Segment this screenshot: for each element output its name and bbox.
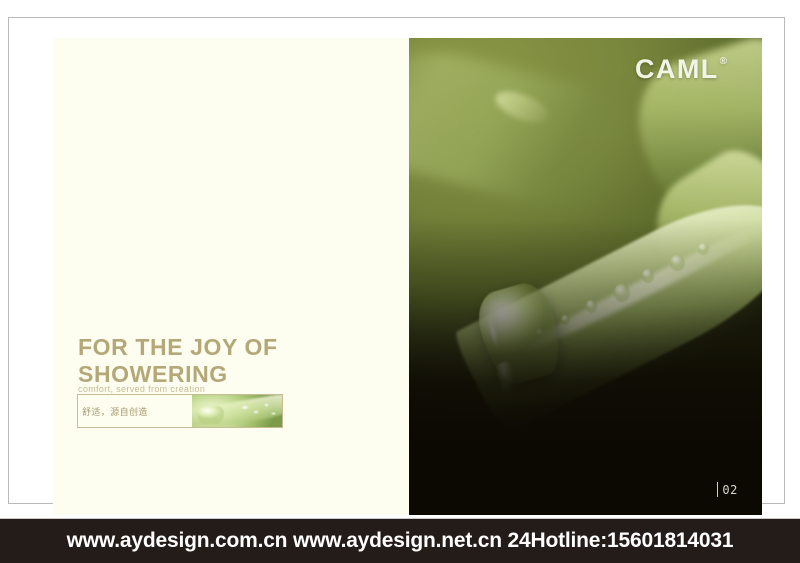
inset-water-droplet (197, 406, 224, 425)
inset-leaf-photo (192, 395, 282, 427)
caml-logo: CAML® (635, 56, 726, 83)
folio-rule (717, 482, 718, 497)
artwork-frame: FOR THE JOY OF SHOWERING comfort, served… (8, 17, 785, 504)
inset-water-bead (241, 405, 249, 410)
headline-line-1: FOR THE JOY OF (78, 334, 388, 361)
subline-text: comfort, served from creation (78, 384, 205, 394)
tagline-row: 舒适，源自创造 (77, 394, 283, 428)
caml-logo-text: CAML (635, 54, 719, 84)
brochure-left-page: FOR THE JOY OF SHOWERING comfort, served… (53, 38, 409, 515)
tagline-chinese: 舒适，源自创造 (78, 395, 192, 427)
brochure-spread: FOR THE JOY OF SHOWERING comfort, served… (53, 38, 762, 515)
banner-text: www.aydesign.com.cn www.aydesign.net.cn … (67, 529, 734, 553)
inset-water-bead (271, 412, 276, 415)
watermark-banner: www.aydesign.com.cn www.aydesign.net.cn … (0, 519, 800, 563)
registered-trademark-icon: ® (720, 56, 727, 67)
page-number: 02 (722, 483, 738, 497)
photo-vignette-overlay (409, 38, 762, 515)
headline-block: FOR THE JOY OF SHOWERING (78, 334, 388, 388)
page-number-group: 02 (717, 482, 738, 497)
portfolio-page: FOR THE JOY OF SHOWERING comfort, served… (0, 0, 800, 563)
brochure-right-page: CAML® 02 (409, 38, 762, 515)
